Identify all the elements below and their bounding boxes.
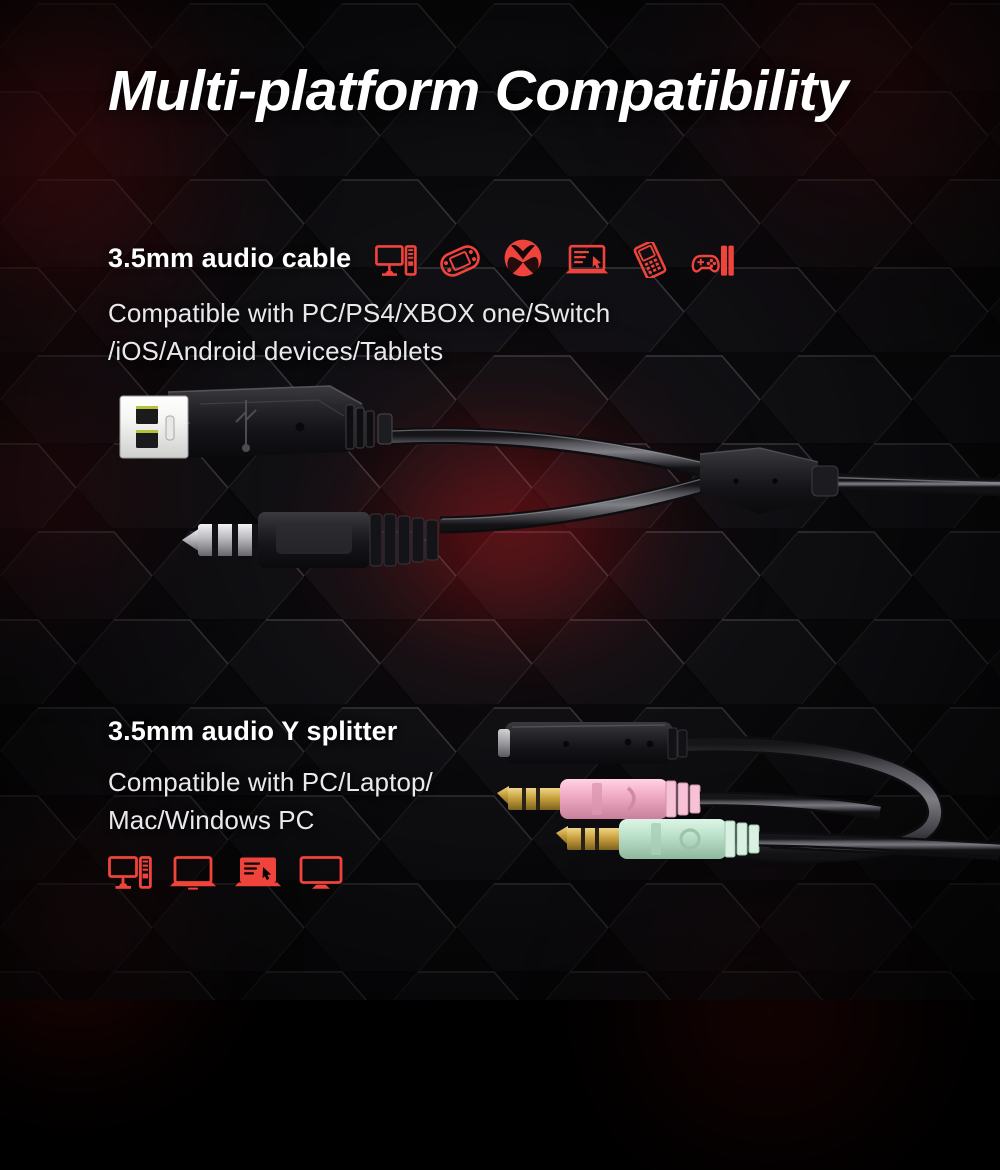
imac-monitor-icon [299,855,343,891]
playstation-console-icon [691,244,735,278]
section-audio-cable-heading: 3.5mm audio cable [108,243,351,274]
section-audio-cable-header: 3.5mm audio cable [108,238,735,278]
section-audio-cable-line-1: Compatible with PC/PS4/XBOX one/Switch [108,294,735,332]
section-y-splitter-line-1: Compatible with PC/Laptop/ [108,763,433,801]
section-audio-cable: 3.5mm audio cable [108,238,735,370]
section-y-splitter: 3.5mm audio Y splitter Compatible with P… [108,716,433,891]
laptop-icon [565,244,609,278]
section-y-splitter-body: Compatible with PC/Laptop/ Mac/Windows P… [108,763,433,839]
desktop-pc-icon [375,244,417,278]
section-audio-cable-body: Compatible with PC/PS4/XBOX one/Switch /… [108,294,735,370]
laptop-content-icon [234,855,282,891]
section-audio-cable-icon-row [375,238,735,278]
mobile-phone-icon [631,242,669,278]
desktop-pc-icon [108,855,152,891]
handheld-console-icon [439,244,481,278]
section-y-splitter-heading: 3.5mm audio Y splitter [108,716,433,747]
xbox-logo-icon [503,238,543,278]
section-y-splitter-line-2: Mac/Windows PC [108,801,433,839]
section-audio-cable-line-2: /iOS/Android devices/Tablets [108,332,735,370]
laptop-icon [169,855,217,891]
page-title: Multi-platform Compatibility [108,58,848,124]
section-y-splitter-icon-row [108,855,433,891]
